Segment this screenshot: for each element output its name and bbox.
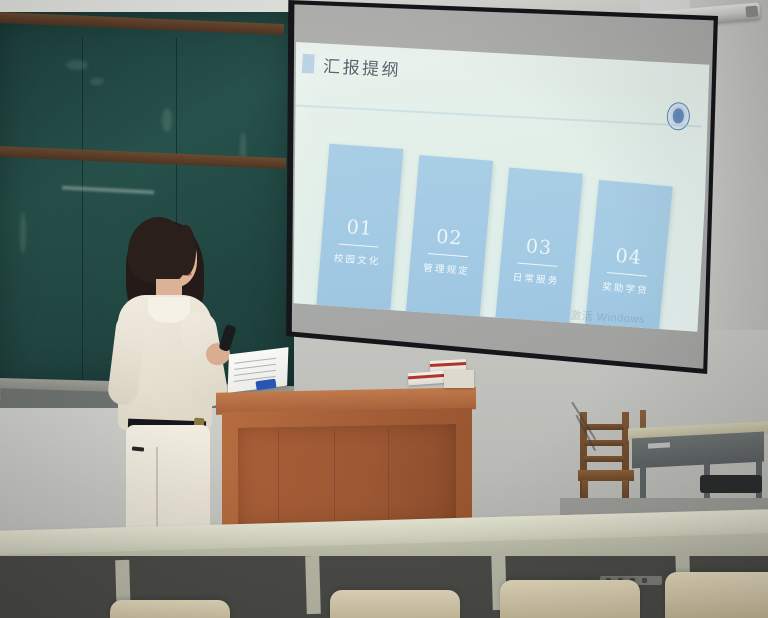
foreground-chair [110,600,230,618]
desk-drawer-box [632,432,764,469]
card-label: 校园文化 [333,250,381,267]
dark-equipment-box [700,475,762,493]
projection-screen: 汇报提纲 01 校园文化 02 [284,0,718,400]
card-number: 04 [615,247,643,268]
card-number: 03 [525,237,553,258]
card-divider [517,263,557,267]
slide-divider [292,104,702,127]
title-marker-square-icon [302,54,315,74]
classroom-presentation-scene: 汇报提纲 01 校园文化 02 [0,0,768,618]
card-number: 02 [435,228,463,249]
student-desk [628,425,768,505]
card-divider [338,244,378,248]
remote-clicker[interactable] [218,324,236,352]
outline-card-1[interactable]: 01 校园文化 [316,144,403,311]
slide-title: 汇报提纲 [323,52,402,81]
screen-casing-end-cap [745,6,758,18]
foreground-chair [500,580,640,618]
outline-card-2[interactable]: 02 管理规定 [406,155,494,320]
slide-title-row: 汇报提纲 [302,51,402,81]
card-divider [428,253,468,257]
foreground-chair [665,572,768,618]
podium-books [408,360,478,388]
chalk-mark [62,186,154,195]
card-label: 管理规定 [423,260,471,278]
card-number: 01 [346,218,374,239]
podium-front-panel [238,424,456,528]
outline-card-3[interactable]: 03 日常服务 [495,167,583,330]
card-label: 日常服务 [512,269,560,287]
desk-divider-panel [305,556,321,614]
card-label: 奖助学贷 [602,279,650,297]
foreground-chair [330,590,460,618]
outline-cards-row: 01 校园文化 02 管理规定 03 日常服务 [316,138,675,326]
presenter-hair-side [176,225,196,275]
card-divider [607,272,647,277]
